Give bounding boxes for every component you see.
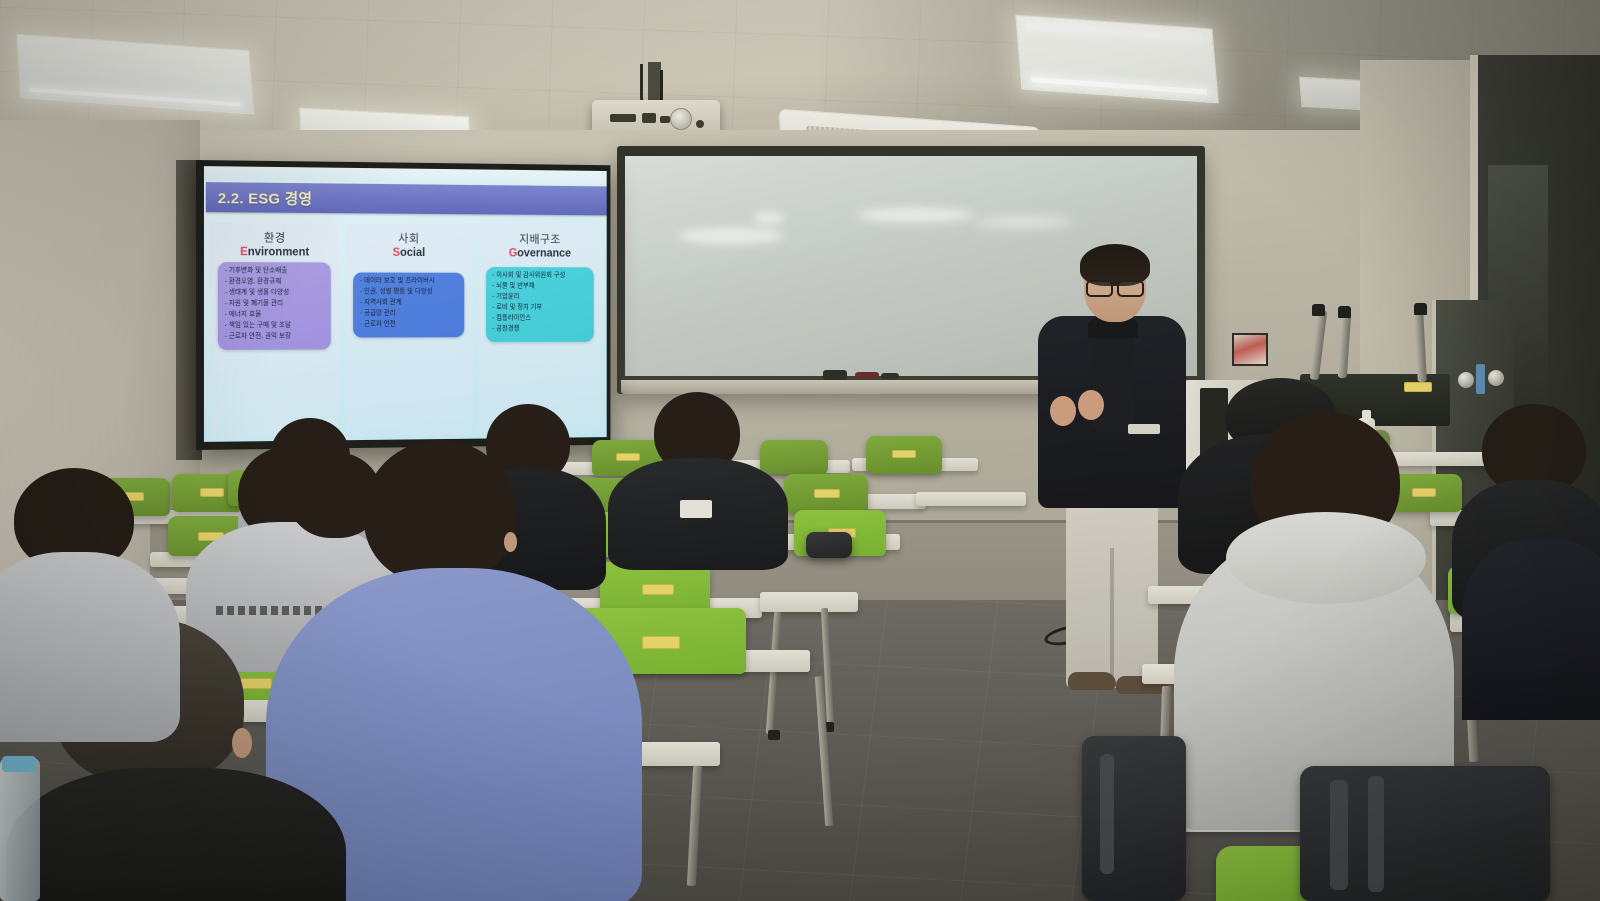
lecturer-leg-seam [1110, 548, 1114, 688]
column-initial-letter: G [509, 248, 517, 260]
list-item: - 기업윤리 [492, 294, 589, 300]
column-heading-rest: overnance [517, 248, 571, 260]
column-heading-korean: 지배구조 [519, 231, 561, 247]
framed-picture [1232, 333, 1268, 366]
list-item: - 로비 및 정치 기부 [492, 305, 589, 311]
classroom-photo: 2.2. ESG 경영 환경 Environment - 기후변화 및 탄소배출… [0, 0, 1600, 901]
column-heading-english: Social [393, 247, 425, 259]
student [1462, 540, 1600, 720]
ceiling-light-panel [1015, 15, 1219, 104]
glasses-icon [1086, 280, 1144, 293]
list-item: - 공급망 관리 [360, 311, 459, 318]
desk [916, 492, 1026, 506]
whiteboard-eraser[interactable] [823, 370, 847, 380]
social-topic-list: - 데이터 보호 및 프라이버시 - 인권, 성별 평등 및 다양성 - 지역사… [360, 278, 459, 328]
list-item: - 에너지 효율 [225, 312, 327, 319]
water-bottle[interactable] [0, 758, 40, 901]
list-item: - 컴플라이언스 [492, 316, 589, 323]
student-body [0, 552, 180, 742]
list-item: - 책임 있는 구매 및 조달 [225, 323, 327, 330]
list-item: - 환경오염, 환경규제 [225, 279, 327, 286]
list-item: - 근로자 안전 [360, 322, 459, 329]
lecturer-hand [1050, 396, 1076, 426]
student-head [364, 440, 516, 584]
slide-column-environment: 환경 Environment - 기후변화 및 탄소배출 - 환경오염, 환경규… [210, 222, 339, 438]
list-item: - 데이터 보호 및 프라이버시 [360, 278, 459, 285]
slide-title: 2.2. ESG 경영 [206, 187, 312, 209]
column-initial-letter: S [393, 247, 400, 259]
list-item: - 뇌물 및 반부패 [492, 284, 589, 291]
whiteboard-marker[interactable] [881, 373, 899, 379]
student [0, 468, 170, 728]
backpack[interactable] [806, 532, 852, 558]
hoodie-hood [1226, 512, 1426, 604]
environment-topic-box: - 기후변화 및 탄소배출 - 환경오염, 환경규제 - 생태계 및 생물 다양… [218, 262, 331, 350]
lecturer-hand [1078, 390, 1104, 420]
presentation-slide: 2.2. ESG 경영 환경 Environment - 기후변화 및 탄소배출… [204, 166, 607, 442]
door-lock-plate [1476, 364, 1485, 394]
lecturer-pocket-detail [1128, 424, 1160, 434]
door-handle-icon[interactable] [1458, 372, 1474, 388]
desk [760, 592, 858, 612]
jacket-label [680, 500, 712, 518]
lecturer [1032, 248, 1188, 698]
asset-tag [1404, 382, 1432, 392]
column-heading-english: Environment [240, 246, 309, 258]
chair[interactable] [866, 436, 942, 474]
student-ear [232, 728, 252, 758]
column-heading-korean: 사회 [398, 230, 419, 246]
governance-topic-list: - 이사회 및 감사위원회 구성 - 뇌물 및 반부패 - 기업윤리 - 로비 … [492, 273, 589, 333]
whiteboard-marker[interactable] [855, 372, 879, 378]
student-ear [504, 532, 517, 552]
desk-foot [768, 730, 780, 740]
list-item: - 지역사회 관계 [360, 300, 459, 306]
list-item: - 공정경쟁 [492, 326, 589, 333]
slide-title-bar: 2.2. ESG 경영 [206, 182, 607, 215]
lecturer-shoe [1068, 672, 1116, 690]
list-item: - 자원 및 폐기물 관리 [225, 301, 327, 308]
door-handle-icon[interactable] [1488, 370, 1504, 386]
list-item: - 근로자 안전, 권익 보장 [225, 334, 327, 341]
student-body [1462, 540, 1600, 720]
list-item: - 이사회 및 감사위원회 구성 [492, 273, 589, 280]
bottle-cap [2, 756, 36, 772]
list-item: - 생태계 및 생물 다양성 [225, 290, 327, 297]
slide-column-social: 사회 Social - 데이터 보호 및 프라이버시 - 인권, 성별 평등 및… [346, 223, 472, 436]
column-heading-rest: nvironment [248, 246, 309, 258]
environment-topic-list: - 기후변화 및 탄소배출 - 환경오염, 환경규제 - 생태계 및 생물 다양… [225, 268, 327, 340]
slide-top-strip [204, 166, 607, 184]
student [1174, 412, 1454, 812]
backpack[interactable] [1082, 736, 1186, 901]
list-item: - 인권, 성별 평등 및 다양성 [360, 289, 459, 296]
column-heading-rest: ocial [400, 247, 425, 259]
column-heading-english: Governance [509, 248, 571, 260]
backpack[interactable] [1300, 766, 1550, 901]
social-topic-box: - 데이터 보호 및 프라이버시 - 인권, 성별 평등 및 다양성 - 지역사… [353, 272, 464, 337]
chair[interactable] [784, 474, 868, 514]
governance-topic-box: - 이사회 및 감사위원회 구성 - 뇌물 및 반부패 - 기업윤리 - 로비 … [486, 267, 594, 342]
column-heading-korean: 환경 [264, 229, 286, 245]
student-body [6, 768, 346, 901]
list-item: - 기후변화 및 탄소배출 [225, 268, 327, 275]
